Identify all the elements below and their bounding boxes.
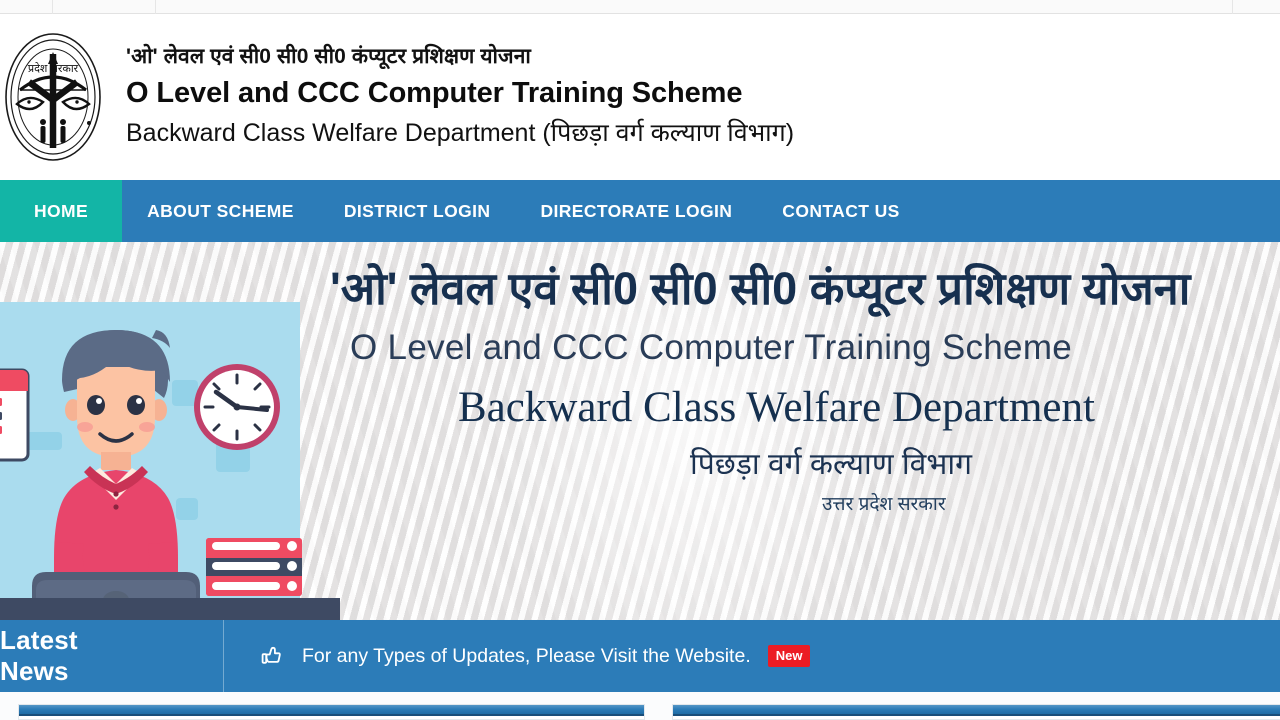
latest-news-body: For any Types of Updates, Please Visit t…	[224, 620, 1280, 692]
card-header-bar	[673, 705, 1280, 716]
header-title-english: O Level and CCC Computer Training Scheme	[126, 72, 794, 114]
latest-news-bar: Latest News For any Types of Updates, Pl…	[0, 620, 1280, 692]
svg-text:प्रदेश सरकार: प्रदेश सरकार	[28, 62, 79, 75]
nav-item-about-scheme[interactable]: ABOUT SCHEME	[122, 180, 319, 242]
header-title-block: 'ओ' लेवल एवं सी0 सी0 सी0 कंप्यूटर प्रशिक…	[126, 42, 794, 152]
nav-item-district-login[interactable]: DISTRICT LOGIN	[319, 180, 516, 242]
wall-clock-graphic	[194, 364, 280, 450]
hero-line-department-en: Backward Class Welfare Department	[458, 376, 1280, 440]
hero-banner: 'ओ' लेवल एवं सी0 सी0 सी0 कंप्यूटर प्रशिक…	[0, 242, 1280, 620]
latest-news-text[interactable]: For any Types of Updates, Please Visit t…	[302, 645, 751, 668]
desk-surface	[0, 598, 340, 620]
nav-item-contact-us[interactable]: CONTACT US	[757, 180, 924, 242]
nav-label: ABOUT SCHEME	[147, 201, 294, 222]
site-header: प्रदेश सरकार 'ओ' लेवल एवं सी0 सी0 सी0 कं…	[0, 14, 1280, 180]
student-at-laptop-graphic	[0, 242, 340, 620]
new-badge: New	[768, 645, 811, 667]
tab-divider	[155, 0, 156, 14]
nav-label: DIRECTORATE LOGIN	[540, 201, 732, 222]
nav-label: CONTACT US	[782, 201, 899, 222]
uttar-pradesh-government-emblem-icon: प्रदेश सरकार	[2, 27, 104, 167]
primary-navigation: HOME ABOUT SCHEME DISTRICT LOGIN DIRECTO…	[0, 180, 1280, 242]
content-card[interactable]	[672, 704, 1280, 720]
header-department: Backward Class Welfare Department (पिछड़…	[126, 114, 794, 152]
nav-item-directorate-login[interactable]: DIRECTORATE LOGIN	[515, 180, 757, 242]
hero-illustration	[0, 242, 340, 620]
tab-divider	[1232, 0, 1233, 14]
header-title-hindi: 'ओ' लेवल एवं सी0 सी0 सी0 कंप्यूटर प्रशिक…	[126, 42, 794, 72]
calendar-graphic	[0, 361, 28, 460]
tab-divider	[52, 0, 53, 14]
hero-line-state: उत्तर प्रदेश सरकार	[822, 490, 1280, 520]
nav-label: DISTRICT LOGIN	[344, 201, 491, 222]
hero-line-hindi-title: 'ओ' लेवल एवं सी0 सी0 सी0 कंप्यूटर प्रशिक…	[330, 258, 1280, 320]
hero-line-english-title: O Level and CCC Computer Training Scheme	[350, 320, 1280, 376]
card-header-bar	[19, 705, 644, 716]
nav-label: HOME	[34, 201, 88, 222]
hero-text-block: 'ओ' लेवल एवं सी0 सी0 सी0 कंप्यूटर प्रशिक…	[330, 258, 1280, 520]
latest-news-label: Latest News	[0, 620, 224, 692]
server-stack-graphic	[206, 538, 302, 596]
thumbs-up-icon	[260, 644, 284, 668]
nav-item-home[interactable]: HOME	[0, 180, 122, 242]
content-card[interactable]	[18, 704, 645, 720]
hero-line-department-hi: पिछड़ा वर्ग कल्याण विभाग	[690, 440, 1280, 490]
browser-tab-strip	[0, 0, 1280, 14]
content-cards-row	[0, 692, 1280, 720]
